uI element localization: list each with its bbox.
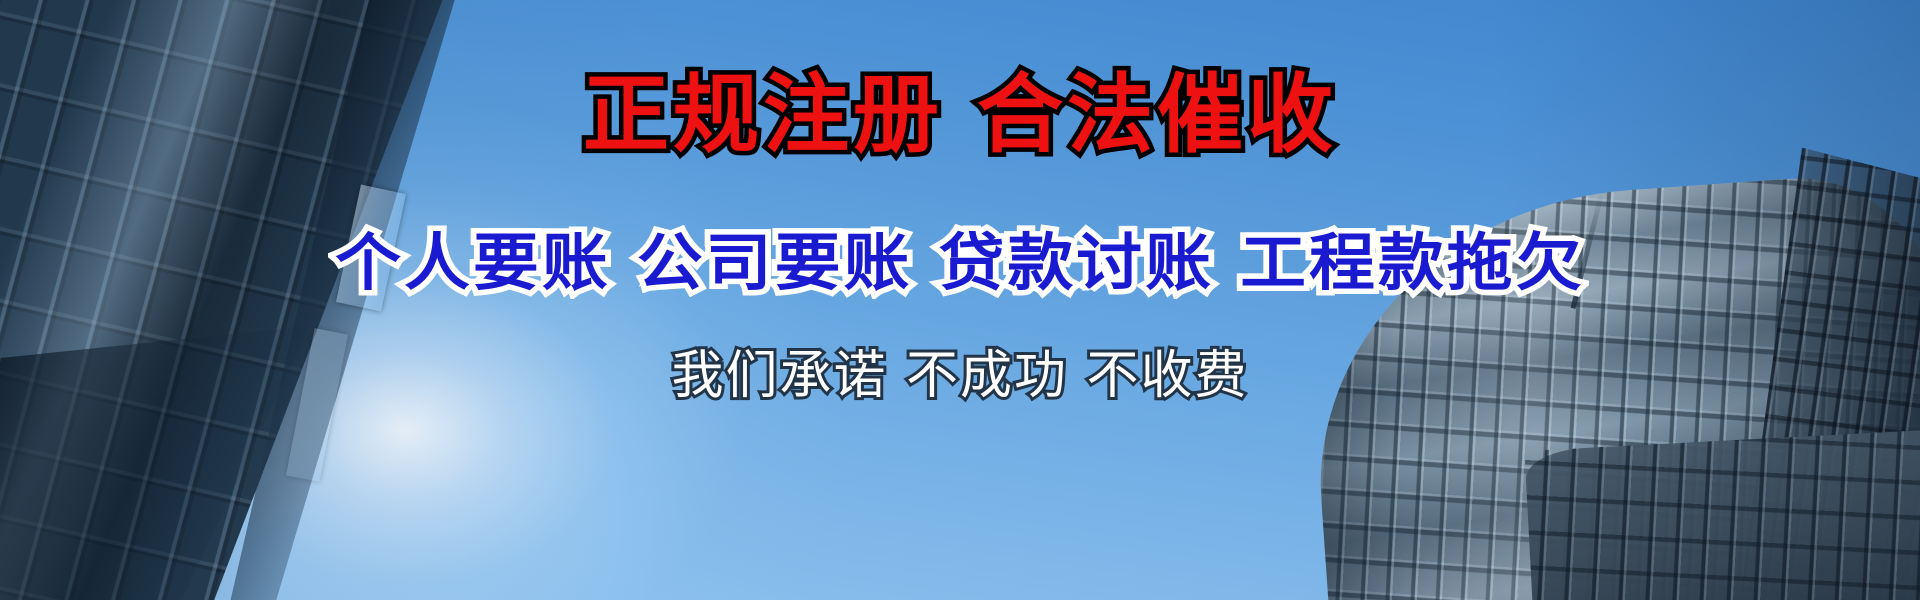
promo-banner: 正规注册 合法催收 个人要账 公司要账 贷款讨账 工程款拖欠 我们承诺 不成功 …	[0, 0, 1920, 600]
right-tower-base	[1525, 429, 1920, 600]
right-tower-base-grid	[1525, 429, 1920, 600]
